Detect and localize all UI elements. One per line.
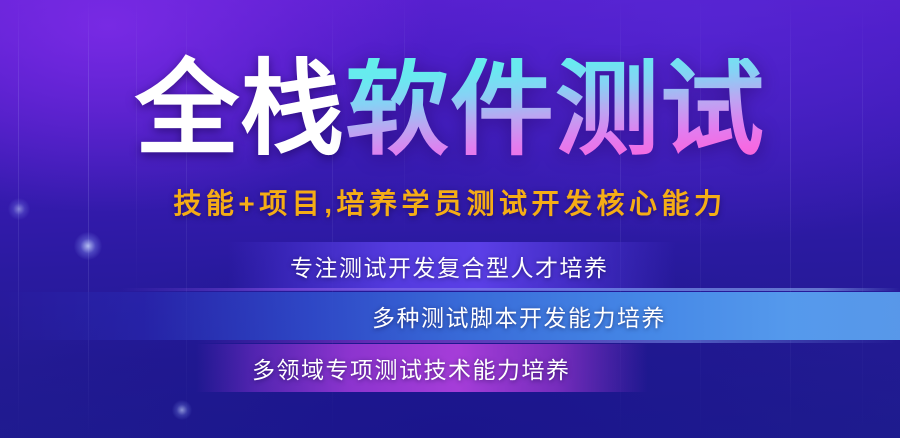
banner-title: 全栈软件测试 bbox=[0, 58, 900, 162]
feature-label-3: 多领域专项测试技术能力培养 bbox=[252, 351, 571, 385]
glow-dot bbox=[172, 400, 192, 420]
feature-bar-3-highlight bbox=[196, 340, 896, 343]
feature-bar-3: 多领域专项测试技术能力培养 bbox=[196, 344, 648, 392]
feature-bar-2-highlight bbox=[120, 288, 900, 291]
title-primary: 全栈 bbox=[135, 58, 345, 162]
feature-bars: 专注测试开发复合型人才培养 多种测试脚本开发能力培养 多领域专项测试技术能力培养 bbox=[0, 236, 900, 401]
banner-subtitle: 技能+项目,培养学员测试开发核心能力 bbox=[0, 182, 900, 222]
feature-bar-1: 专注测试开发复合型人才培养 bbox=[228, 242, 676, 290]
feature-label-2: 多种测试脚本开发能力培养 bbox=[372, 299, 666, 333]
feature-bar-2: 多种测试脚本开发能力培养 bbox=[0, 292, 900, 340]
feature-label-1: 专注测试开发复合型人才培养 bbox=[290, 249, 609, 283]
promo-banner: 全栈软件测试 技能+项目,培养学员测试开发核心能力 专注测试开发复合型人才培养 … bbox=[0, 0, 900, 438]
title-secondary: 软件测试 bbox=[345, 58, 765, 162]
